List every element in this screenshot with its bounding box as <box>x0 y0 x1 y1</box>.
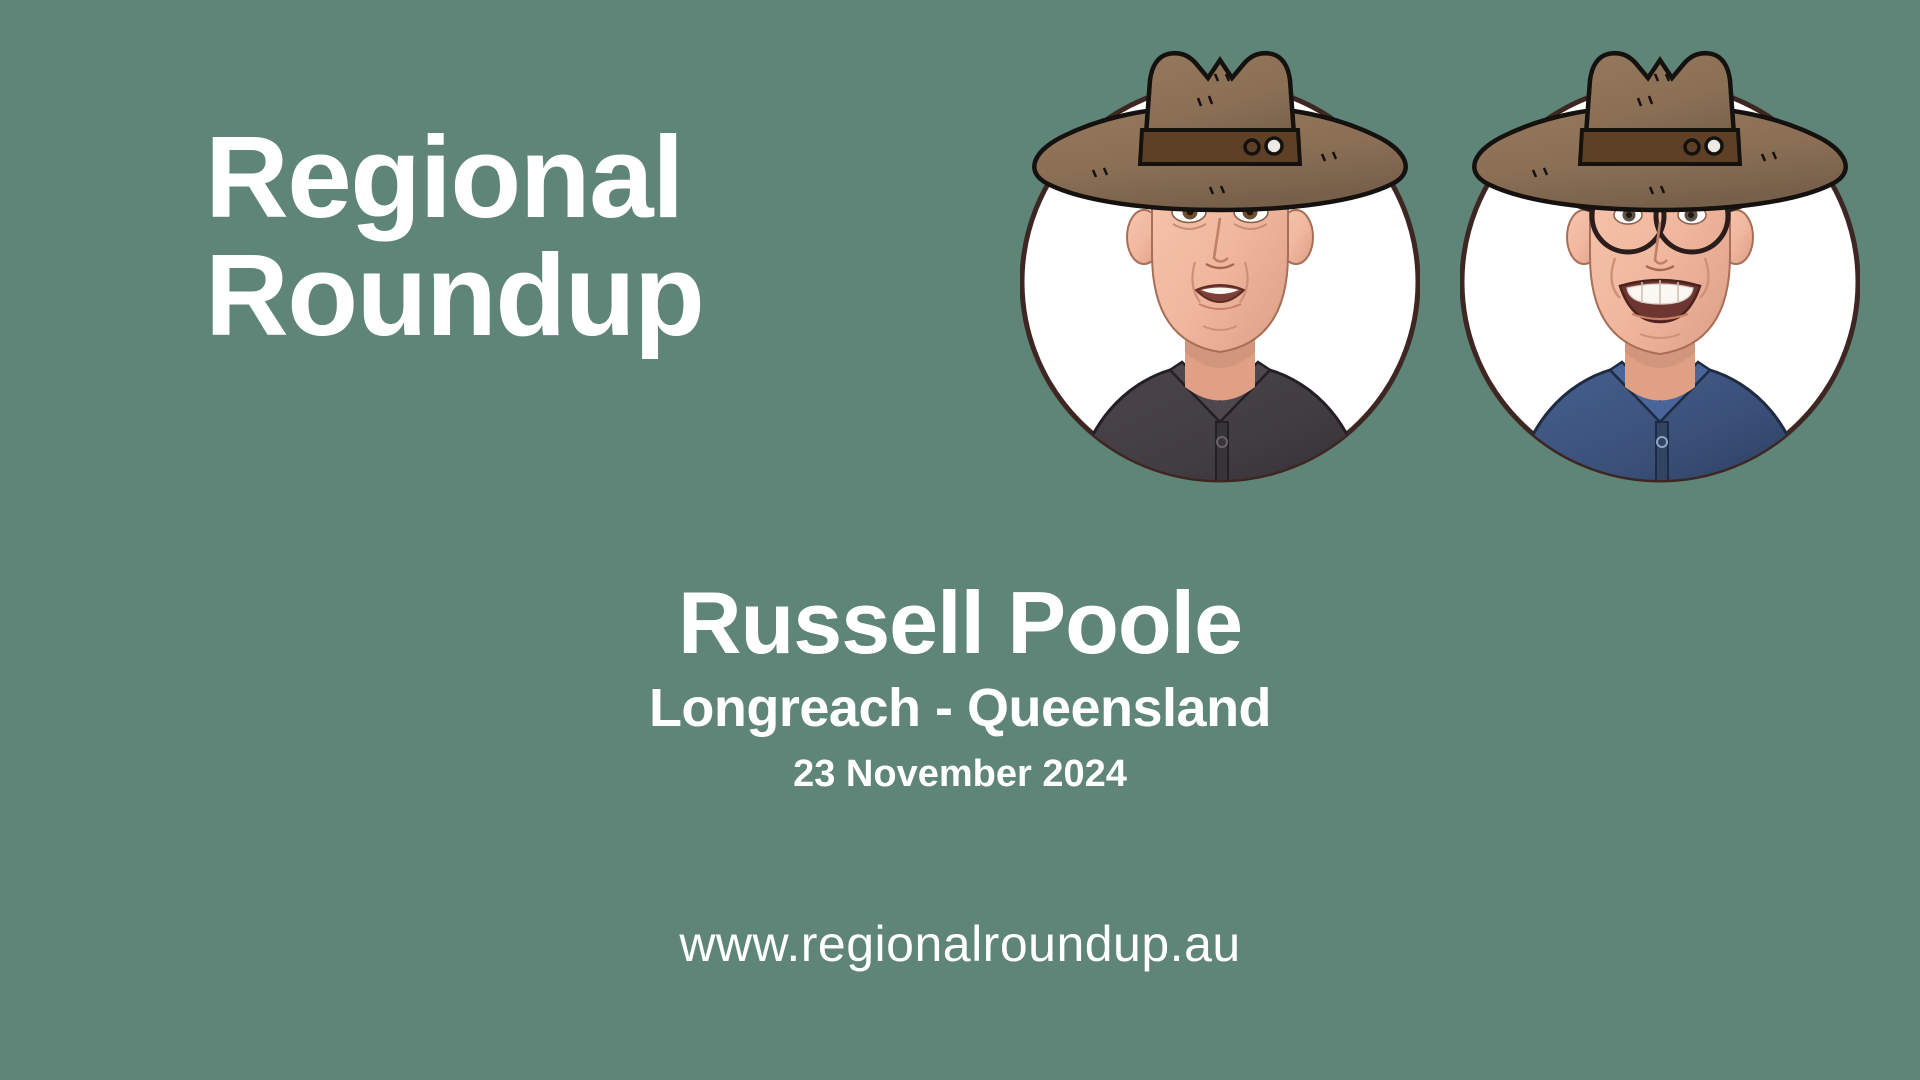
speaker-name: Russell Poole <box>0 575 1920 670</box>
speaker-date: 23 November 2024 <box>0 751 1920 799</box>
page-title: Regional Roundup <box>205 118 925 355</box>
website-url: www.regionalroundup.au <box>0 915 1920 973</box>
speaker-location: Longreach - Queensland <box>0 676 1920 741</box>
title-line-1: Regional <box>205 118 925 236</box>
title-line-2: Roundup <box>205 236 925 354</box>
avatar-host-left <box>1020 22 1420 502</box>
hat <box>1474 53 1845 210</box>
avatar-host-right <box>1460 22 1860 502</box>
avatar-group <box>1020 22 1900 502</box>
hat <box>1034 53 1405 210</box>
speaker-info: Russell Poole Longreach - Queensland 23 … <box>0 575 1920 798</box>
